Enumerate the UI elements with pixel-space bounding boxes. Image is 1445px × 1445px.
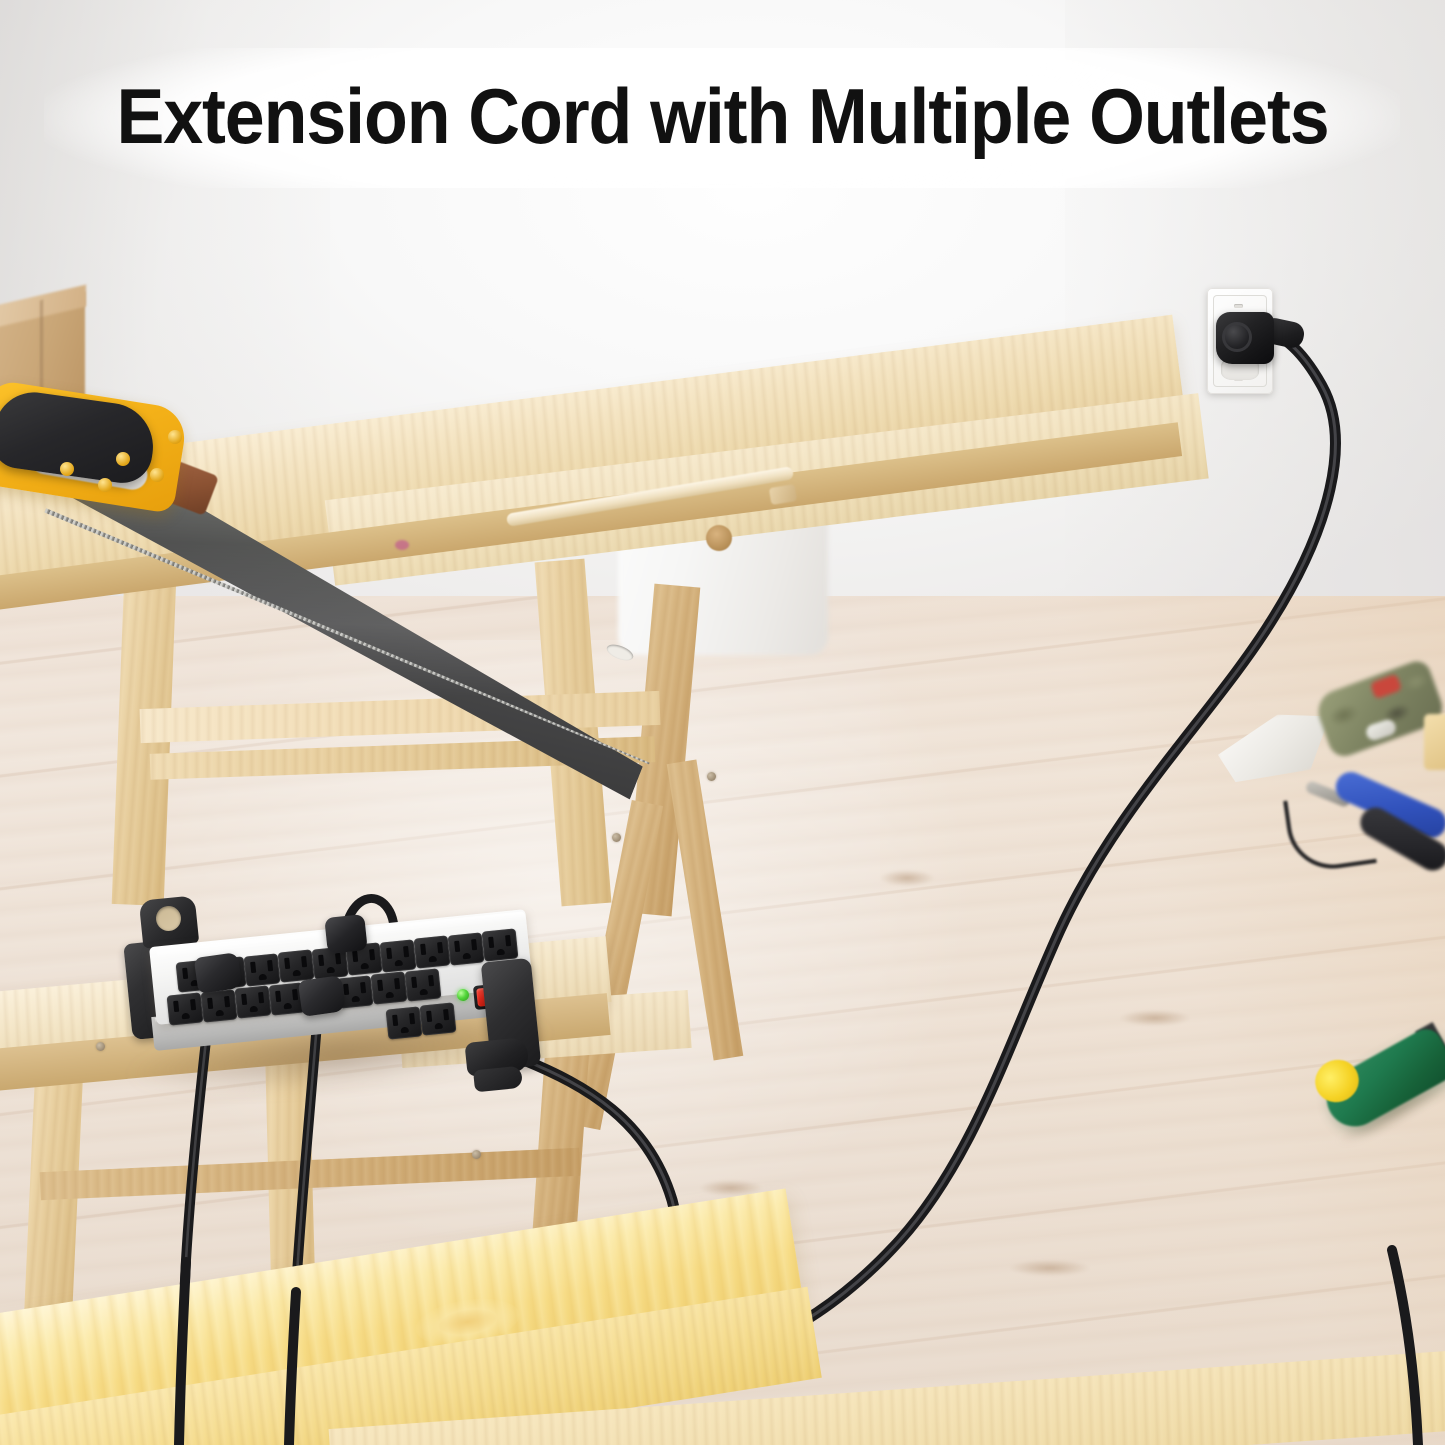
outlet-socket[interactable] xyxy=(448,932,485,965)
wood-block-right xyxy=(1424,714,1445,770)
outlet-socket[interactable] xyxy=(371,971,408,1004)
handsaw-rivet xyxy=(116,452,130,466)
handsaw-rivet xyxy=(168,430,182,444)
screw-head xyxy=(612,833,621,842)
outlet-socket[interactable] xyxy=(201,989,238,1022)
handsaw-rivet xyxy=(60,462,74,476)
outlet-socket[interactable] xyxy=(386,1006,423,1039)
page-title: Extension Cord with Multiple Outlets xyxy=(58,62,1387,170)
wall-plate-screw xyxy=(1234,304,1243,308)
floor-knot xyxy=(1010,1260,1090,1276)
wall-plug-face xyxy=(1222,322,1252,352)
screw-head xyxy=(96,1042,105,1051)
screw-head xyxy=(472,1150,481,1159)
floor-knot xyxy=(1120,1010,1190,1026)
outlet-socket[interactable] xyxy=(235,985,272,1018)
board-drill-hole xyxy=(706,525,732,551)
outlet-socket[interactable] xyxy=(167,992,204,1025)
outlet-socket[interactable] xyxy=(244,953,281,986)
outlet-socket[interactable] xyxy=(482,928,519,961)
product-lifestyle-image: Extension Cord with Multiple Outlets xyxy=(0,0,1445,1445)
outlet-socket[interactable] xyxy=(380,939,417,972)
outlet-socket[interactable] xyxy=(278,949,315,982)
floor-knot xyxy=(880,870,934,886)
outlet-socket[interactable] xyxy=(420,1002,457,1035)
handsaw-rivet xyxy=(98,478,112,492)
inserted-plug-left[interactable] xyxy=(194,952,243,994)
screw-head xyxy=(707,772,716,781)
inserted-plug-top[interactable] xyxy=(324,914,368,954)
outlet-socket[interactable] xyxy=(405,968,442,1001)
inserted-plug-middle[interactable] xyxy=(298,975,347,1017)
handsaw-blade-mark xyxy=(395,540,409,550)
handsaw-rivet xyxy=(150,468,164,482)
outlet-socket[interactable] xyxy=(414,935,451,968)
